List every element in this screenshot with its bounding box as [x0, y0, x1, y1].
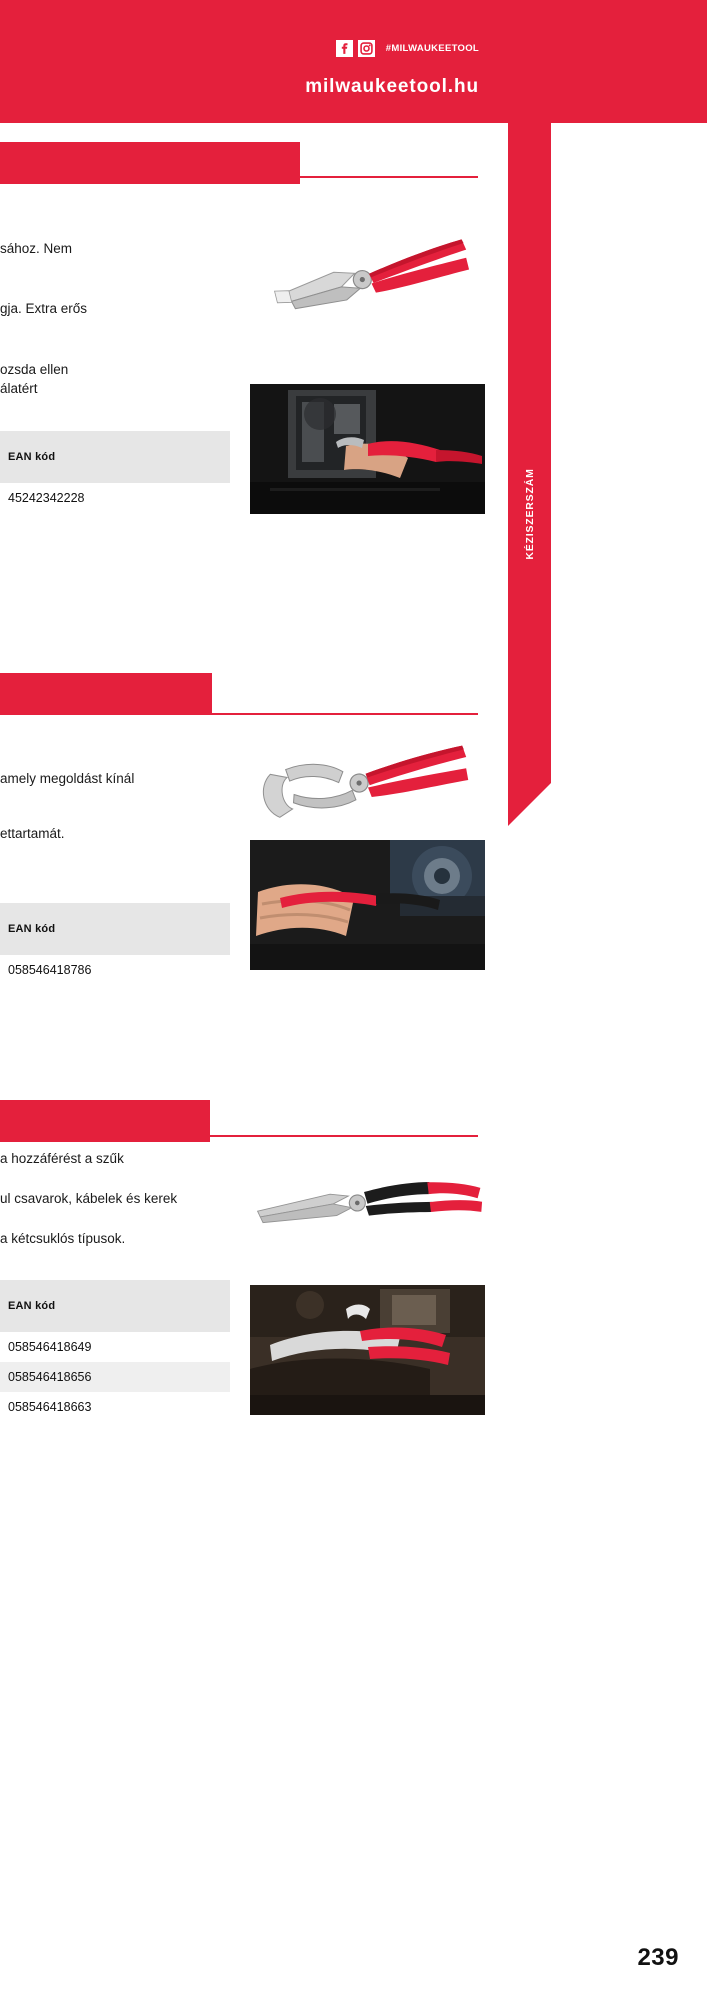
product-description-line: amely megoldást kínál — [0, 770, 260, 787]
product-spec-table-2: EAN kód 058546418786 — [0, 903, 230, 985]
cell-ean: 45242342228 — [0, 491, 84, 505]
page-number: 239 — [637, 1944, 679, 1972]
column-header-ean: EAN kód — [0, 1300, 55, 1312]
product-description-line: ettartamát. — [0, 825, 230, 842]
table-header-row: EAN kód — [0, 431, 230, 483]
section-tab-keziszerszam[interactable]: KÉZISZERSZÁM — [508, 123, 551, 783]
lineman-pliers-in-use-photo — [250, 384, 485, 514]
cell-ean: 058546418786 — [0, 963, 91, 977]
product-description-line: a kétcsuklós típusok. — [0, 1230, 280, 1247]
product-spec-table-1: EAN kód 45242342228 — [0, 431, 230, 513]
table-row: 058546418663 — [0, 1392, 230, 1422]
table-header-row: EAN kód — [0, 1280, 230, 1332]
cell-ean: 058546418649 — [0, 1340, 91, 1354]
cell-ean: 058546418656 — [0, 1370, 91, 1384]
product-description-line: ozsda ellen — [0, 361, 230, 378]
product-title-rule-1 — [0, 176, 478, 178]
table-row: 058546418649 — [0, 1332, 230, 1362]
table-row: 058546418656 — [0, 1362, 230, 1392]
table-row: 45242342228 — [0, 483, 230, 513]
long-nose-pliers-product-photo — [245, 1160, 485, 1240]
oil-filter-pliers-product-photo — [245, 730, 485, 835]
product-spec-table-3: EAN kód 058546418649 058546418656 058546… — [0, 1280, 230, 1422]
long-nose-pliers-in-use-photo — [250, 1285, 485, 1415]
product-title-bar-2 — [0, 673, 212, 715]
table-row: 058546418786 — [0, 955, 230, 985]
product-description-line: sához. Nem — [0, 240, 230, 257]
column-header-ean: EAN kód — [0, 451, 55, 463]
product-block-1: sához. Nem gja. Extra erős ozsda ellen á… — [0, 0, 508, 660]
product-description-line: gja. Extra erős — [0, 300, 230, 317]
right-white-margin — [551, 123, 707, 2000]
product-block-3: a hozzáférést a szűk ul csavarok, kábele… — [0, 1100, 508, 1600]
lineman-pliers-product-photo — [245, 225, 485, 340]
cell-ean: 058546418663 — [0, 1400, 91, 1414]
product-block-2: amely megoldást kínál ettartamát. EAN kó… — [0, 660, 508, 1100]
table-header-row: EAN kód — [0, 903, 230, 955]
product-description-line: álatért — [0, 380, 230, 397]
catalog-page: #MILWAUKEETOOL milwaukeetool.hu KÉZISZER… — [0, 0, 707, 2000]
column-header-ean: EAN kód — [0, 923, 55, 935]
product-title-rule-2 — [0, 713, 478, 715]
section-tab-label: KÉZISZERSZÁM — [524, 468, 536, 559]
oil-filter-pliers-in-use-photo — [250, 840, 485, 970]
header-right-gutter — [508, 0, 707, 123]
product-title-rule-3 — [0, 1135, 478, 1137]
product-description-line: a hozzáférést a szűk — [0, 1150, 280, 1167]
